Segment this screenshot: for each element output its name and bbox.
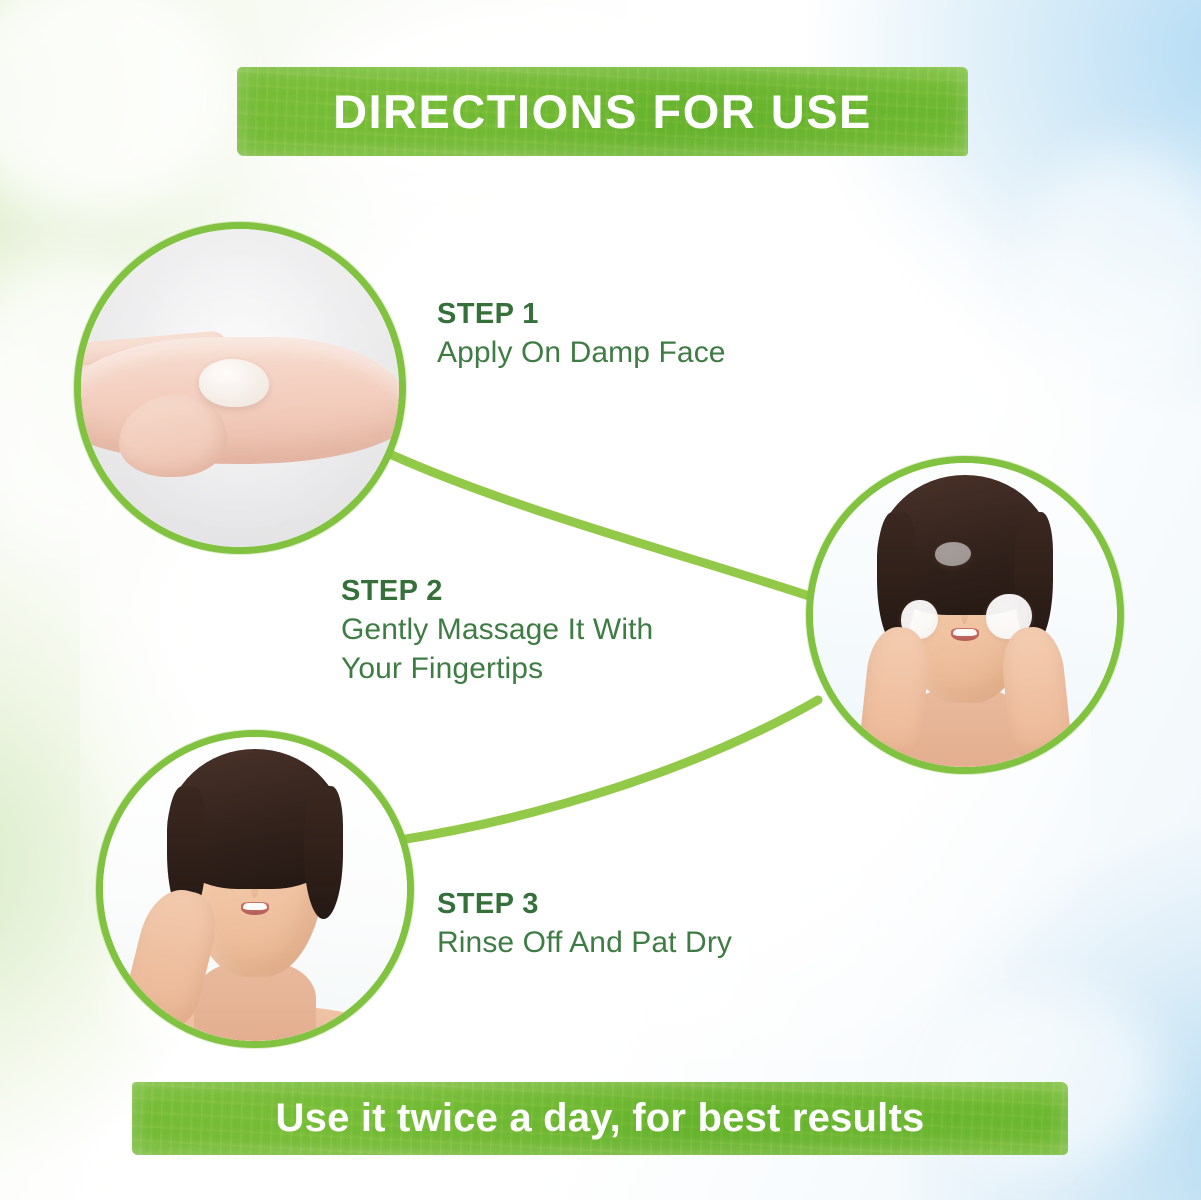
mouth	[951, 628, 979, 641]
header-banner: DIRECTIONS FOR USE	[237, 67, 968, 156]
hand-image	[81, 229, 399, 547]
footer-text: Use it twice a day, for best results	[276, 1096, 925, 1141]
step-3-illustration	[103, 737, 407, 1041]
hand-right	[998, 624, 1072, 757]
step-2-text-block: STEP 2 Gently Massage It With Your Finge…	[341, 575, 771, 688]
step-1-label: STEP 1	[437, 298, 867, 330]
step-2-illustration	[813, 463, 1117, 767]
product-dollop	[199, 359, 269, 407]
step-3-text-block: STEP 3 Rinse Off And Pat Dry	[437, 888, 867, 963]
footer-banner: Use it twice a day, for best results	[132, 1082, 1068, 1155]
step-3-label: STEP 3	[437, 888, 867, 920]
step-3-description: Rinse Off And Pat Dry	[437, 924, 867, 962]
hair-side-right	[304, 786, 344, 920]
step-2-image-circle	[806, 456, 1124, 774]
teeth	[243, 903, 266, 910]
face-foam-image	[813, 463, 1117, 767]
teeth	[953, 629, 976, 636]
directions-for-use-poster: DIRECTIONS FOR USE	[0, 0, 1201, 1200]
step-1-illustration	[81, 229, 399, 547]
step-2-description-line-1: Gently Massage It With	[341, 613, 653, 646]
step-3-image-circle	[96, 730, 414, 1048]
step-2-description: Gently Massage It With Your Fingertips	[341, 611, 771, 688]
face-clean-image	[103, 737, 407, 1041]
step-1-description: Apply On Damp Face	[437, 334, 867, 372]
mouth	[241, 902, 269, 915]
page-title: DIRECTIONS FOR USE	[333, 84, 872, 139]
step-2-description-line-2: Your Fingertips	[341, 652, 543, 685]
hand-left	[858, 624, 932, 757]
step-1-image-circle	[74, 222, 406, 554]
step-1-text-block: STEP 1 Apply On Damp Face	[437, 298, 867, 373]
step-2-label: STEP 2	[341, 575, 771, 607]
